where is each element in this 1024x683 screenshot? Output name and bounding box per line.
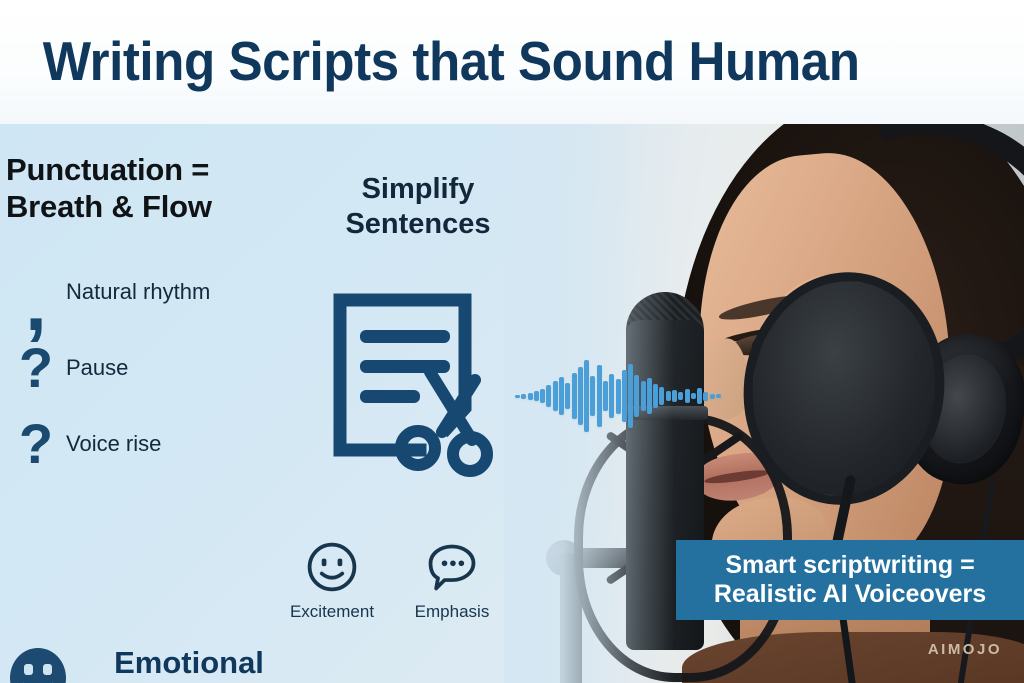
smiley-face-outline-icon xyxy=(286,536,378,598)
waveform-bar xyxy=(609,374,614,418)
waveform-bar xyxy=(685,389,690,403)
waveform-bar xyxy=(634,375,639,417)
waveform-bar xyxy=(521,394,526,399)
watermark-aimojo: AIMOJO xyxy=(928,641,1002,658)
title-band: Writing Scripts that Sound Human xyxy=(0,0,1024,124)
list-item-label: Pause xyxy=(66,355,128,381)
waveform-bar xyxy=(672,390,677,402)
waveform-bar xyxy=(622,370,627,422)
comma-icon: , xyxy=(6,262,66,323)
punctuation-heading: Punctuation = Breath & Flow xyxy=(6,152,306,225)
punctuation-heading-line1: Punctuation = xyxy=(6,152,306,189)
cue-icon-row: Excitement Emphasis xyxy=(286,536,502,622)
waveform-bar xyxy=(716,394,721,398)
waveform-bar xyxy=(647,378,652,414)
body-area: Punctuation = Breath & Flow , Natural rh… xyxy=(0,124,1024,683)
smiley-face-filled-icon xyxy=(10,648,66,683)
waveform-bar xyxy=(584,360,589,432)
waveform-bar xyxy=(628,364,633,428)
waveform-bar xyxy=(534,391,539,401)
simplify-sentences-title: Simplify Sentences xyxy=(318,172,518,242)
waveform-bar xyxy=(578,367,583,425)
emotional-cues-line1: Emotional xyxy=(72,646,306,681)
waveform-bar xyxy=(546,385,551,407)
smiley-mouth xyxy=(23,675,53,683)
emotional-cues-label: Emotional Cues xyxy=(66,646,306,683)
list-item-label: Natural rhythm xyxy=(66,279,210,305)
waveform-bar xyxy=(641,381,646,411)
list-item-label: Voice rise xyxy=(66,431,161,457)
page-title: Writing Scripts that Sound Human xyxy=(0,33,860,91)
waveform-bar xyxy=(515,395,520,398)
waveform-bar xyxy=(710,394,715,399)
waveform-bar xyxy=(691,393,696,399)
cue-emphasis: Emphasis xyxy=(406,536,498,622)
question-mark-icon: ? xyxy=(6,416,66,472)
punctuation-heading-line2: Breath & Flow xyxy=(6,189,306,226)
smiley-eye-left xyxy=(24,664,33,675)
document-with-scissors-icon xyxy=(330,292,510,482)
list-item: , Natural rhythm xyxy=(6,254,306,330)
punctuation-bullet-list: , Natural rhythm ? Pause ? Voice rise xyxy=(6,254,306,482)
waveform-bar xyxy=(597,365,602,427)
cue-label: Excitement xyxy=(286,602,378,622)
waveform-bar xyxy=(666,391,671,401)
banner-line1: Smart scriptwriting = xyxy=(725,551,974,580)
waveform-bar xyxy=(590,376,595,416)
waveform-bar xyxy=(540,389,545,403)
waveform-bar xyxy=(572,373,577,419)
speech-bubble-svg xyxy=(424,539,480,595)
waveform-bar xyxy=(697,388,702,404)
cue-excitement: Excitement xyxy=(286,536,378,622)
waveform-bar xyxy=(553,381,558,411)
waveform-bar xyxy=(559,377,564,415)
waveform-bar xyxy=(703,392,708,401)
waveform-bar xyxy=(565,383,570,409)
question-mark-icon: ? xyxy=(6,340,66,396)
speech-bubble-dots-icon xyxy=(406,536,498,598)
list-item: ? Voice rise xyxy=(6,406,306,482)
waveform-bar xyxy=(659,387,664,405)
waveform-bar xyxy=(603,381,608,411)
waveform-bar xyxy=(678,392,683,400)
banner-line2: Realistic AI Voiceovers xyxy=(714,580,986,609)
simplify-title-line2: Sentences xyxy=(318,207,518,242)
cta-banner: Smart scriptwriting = Realistic AI Voice… xyxy=(676,540,1024,620)
infographic-canvas: Writing Scripts that Sound Human xyxy=(0,0,1024,683)
list-item: ? Pause xyxy=(6,330,306,406)
emotional-cues-block: Emotional Cues xyxy=(6,646,306,683)
smiley-eye-right xyxy=(43,664,52,675)
cue-label: Emphasis xyxy=(406,602,498,622)
smiley-outline-svg xyxy=(304,539,360,595)
simplify-title-line1: Simplify xyxy=(318,172,518,207)
audio-waveform xyxy=(515,356,721,436)
waveform-bar xyxy=(528,393,533,400)
document-scissors-svg xyxy=(330,292,510,482)
waveform-bar xyxy=(653,384,658,408)
waveform-bar xyxy=(616,379,621,414)
